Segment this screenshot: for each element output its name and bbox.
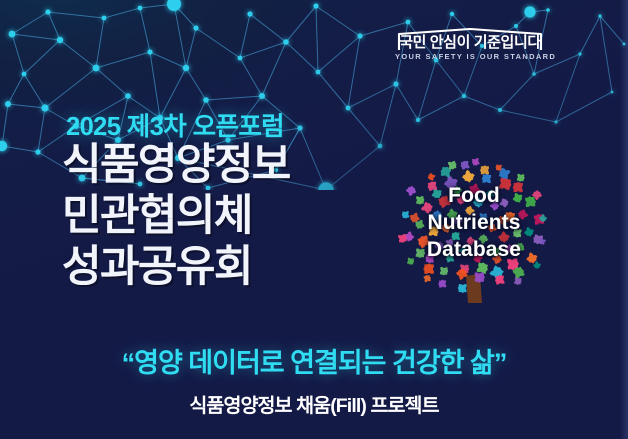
project-subtitle: 식품영양정보 채움(Fill) 프로젝트 — [0, 389, 628, 418]
tagline-quote: “영양 데이터로 연결되는 건강한 삶” — [0, 341, 628, 380]
poster-canvas: 국민 안심이 기준입니다 YOUR SAFETY IS OUR STANDARD… — [0, 0, 628, 439]
gov-logo-english-tagline: YOUR SAFETY IS OUR STANDARD — [395, 52, 545, 61]
gov-logo-korean-text: 국민 안심이 기준입니다 — [395, 31, 545, 52]
page-title: 식품영양정보 민관협의체 성과공유회 — [62, 140, 290, 293]
forum-eyebrow-label: 2025 제3차 오픈포럼 — [66, 106, 284, 143]
headline-line-1: 식품영양정보 — [62, 140, 290, 191]
food-nutrients-database-emblem: Food Nutrients Database — [388, 156, 560, 306]
government-logo: 국민 안심이 기준입니다 YOUR SAFETY IS OUR STANDARD — [395, 28, 545, 70]
puzzle-circle-icon — [388, 156, 560, 306]
headline-line-3: 성과공유회 — [62, 242, 290, 293]
headline-line-2: 민관협의체 — [62, 191, 290, 242]
